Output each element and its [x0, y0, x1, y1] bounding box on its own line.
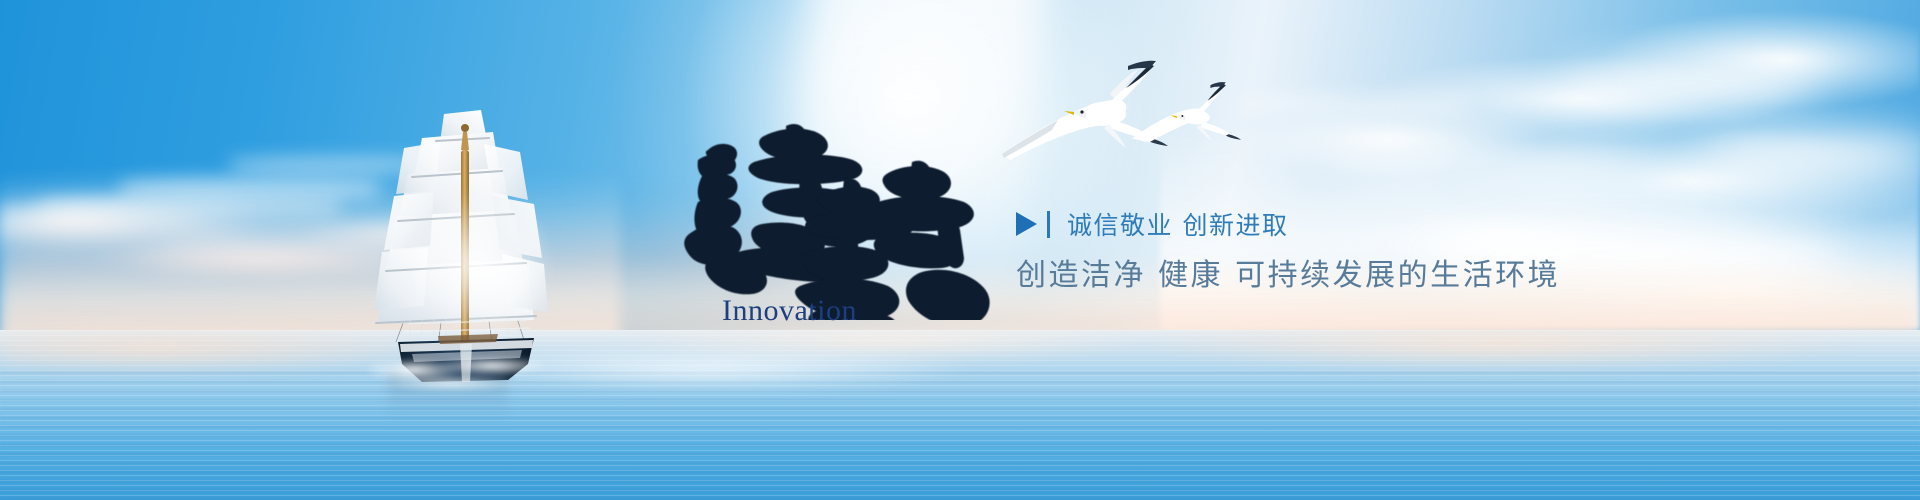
cloud-puff — [1330, 150, 1630, 190]
divider-bar — [1047, 211, 1050, 238]
cloud-wisp — [120, 178, 380, 200]
seagull-icon — [1132, 82, 1241, 142]
slogan-secondary-label: 创造洁净 健康 可持续发展的生活环境 — [1016, 250, 1560, 294]
seagulls-group — [1000, 48, 1300, 168]
play-triangle-icon — [1016, 212, 1037, 236]
slogan-primary-row: 诚信敬业 创新进取 — [1016, 206, 1288, 242]
slogan-primary-label: 诚信敬业 创新进取 — [1067, 206, 1288, 242]
cloud-puff — [1560, 60, 1820, 106]
calligraphy-headline — [668, 120, 1008, 320]
headline-english-label: Innovation — [722, 294, 857, 328]
ship-wake-foam — [356, 338, 546, 396]
seagull-icon — [1002, 61, 1168, 160]
hero-banner: Innovation 诚信敬业 创新进取 创造洁净 健康 可持续发展的生活环境 — [0, 0, 1920, 500]
